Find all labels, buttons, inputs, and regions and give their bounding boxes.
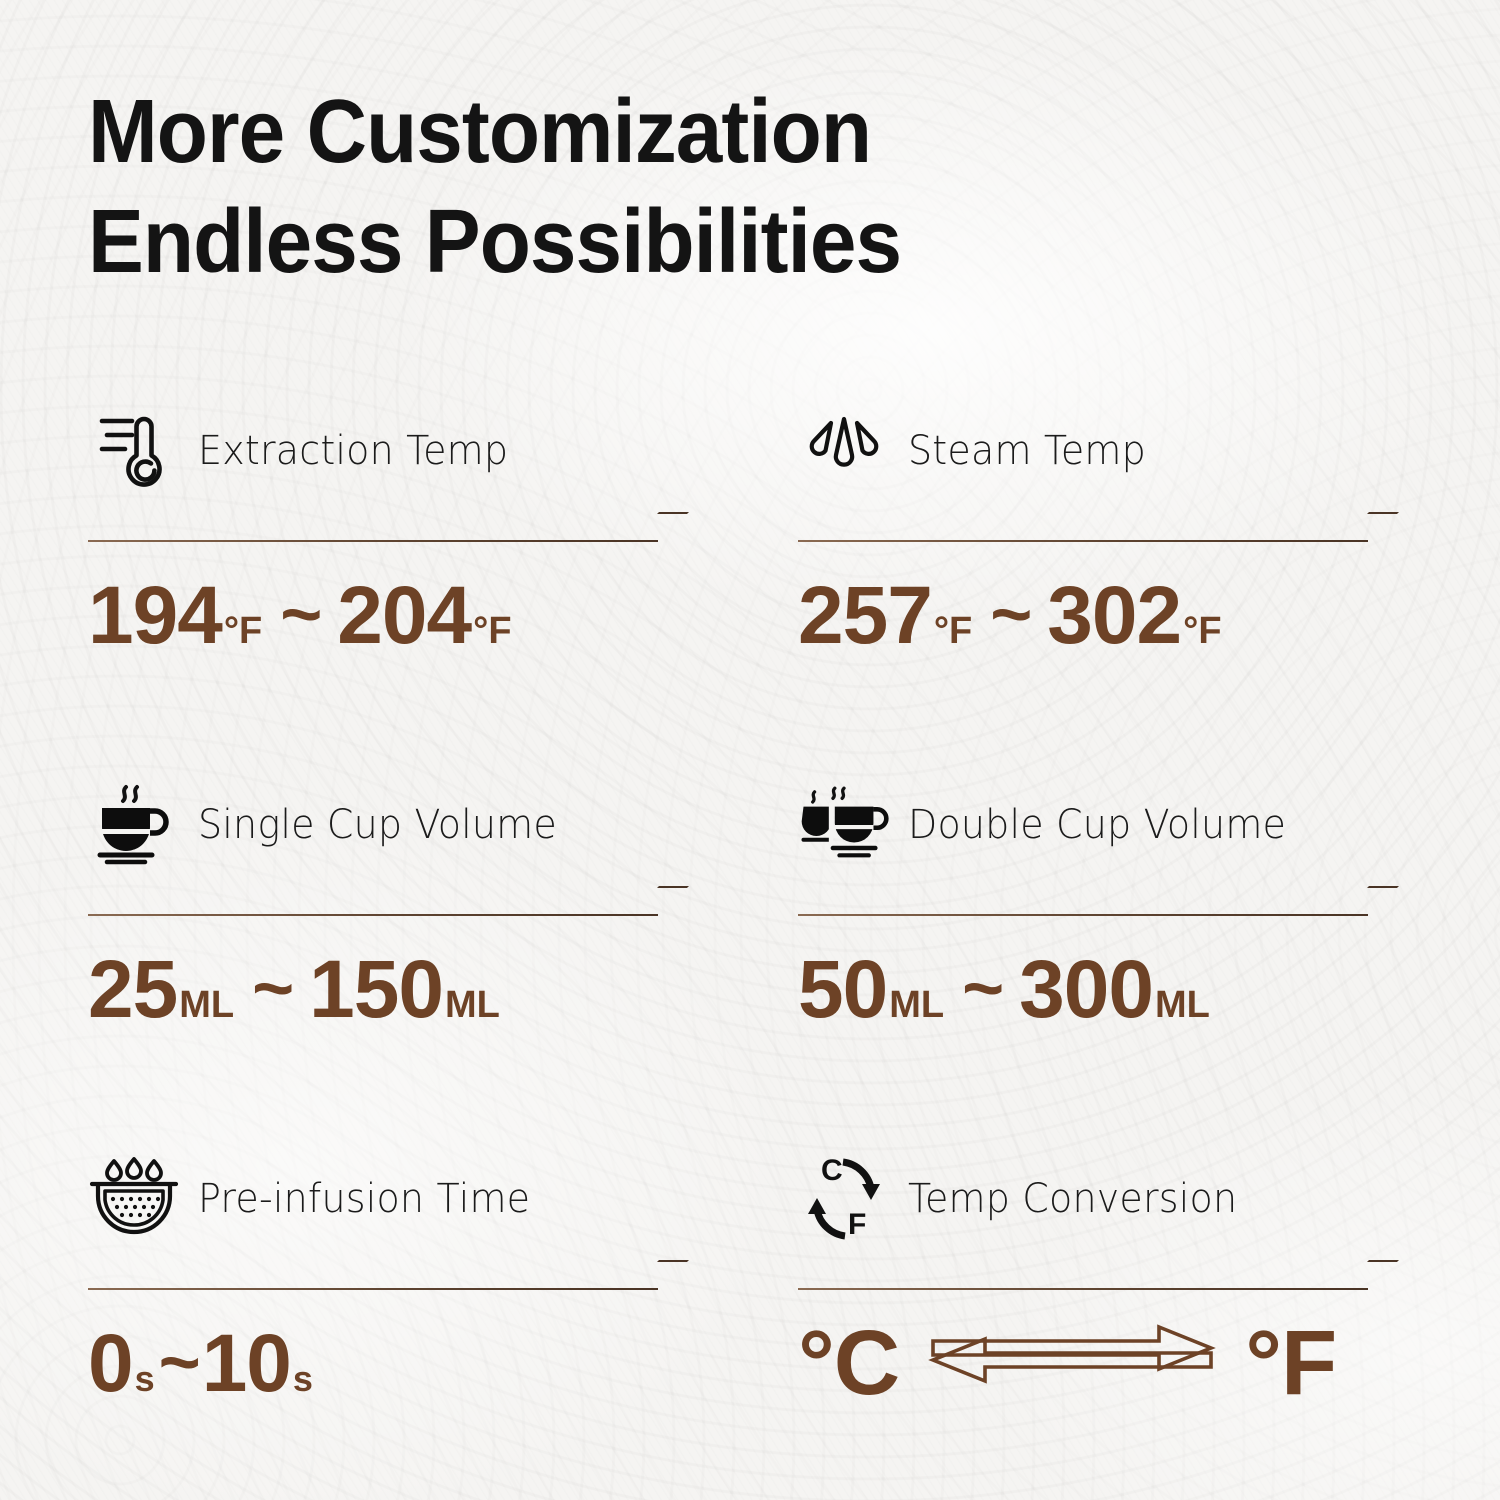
value-max: 204 (337, 575, 471, 657)
cycle-label-f: F (848, 1208, 866, 1241)
infographic-page: More Customization Endless Possibilities (0, 0, 1500, 1500)
feature-block-pre-infusion-time: Pre-infusion Time 0s ~ 10s (88, 1153, 658, 1409)
divider-arrowhead (1339, 512, 1399, 542)
value-max: 300 (1019, 949, 1153, 1031)
conversion-from-unit: °C (798, 1317, 899, 1409)
steam-nozzle-icon (798, 405, 890, 497)
feature-header: Pre-infusion Time (88, 1153, 658, 1245)
value-separator: ~ (159, 1327, 200, 1399)
value-max-unit: s (293, 1361, 313, 1397)
divider-line (798, 540, 1368, 542)
feature-label: Double Cup Volume (908, 802, 1286, 848)
value-min-unit: ML (179, 986, 234, 1024)
feature-block-extraction-temp: Extraction Temp 194°F ~ 204°F (88, 405, 658, 657)
value-separator: ~ (252, 953, 293, 1025)
divider-line (798, 914, 1368, 916)
page-title: More Customization Endless Possibilities (88, 78, 901, 298)
divider-arrowhead (1339, 1260, 1399, 1290)
value-min: 50 (798, 949, 887, 1031)
feature-divider-arrow (88, 891, 658, 925)
value-separator: ~ (962, 953, 1003, 1025)
conversion-to-unit: °F (1245, 1317, 1336, 1409)
portafilter-basket-icon (88, 1153, 180, 1245)
value-min: 25 (88, 949, 177, 1031)
feature-block-double-cup-volume: Double Cup Volume 50ML ~ 300ML (798, 779, 1368, 1031)
feature-header: Double Cup Volume (798, 779, 1368, 871)
value-max-unit: ML (445, 986, 500, 1024)
feature-header: C F Temp Conversion (798, 1153, 1368, 1245)
feature-block-temp-conversion: C F Temp Conversion °C °F (798, 1153, 1368, 1409)
divider-arrowhead (629, 1260, 689, 1290)
feature-value: 25ML ~ 150ML (88, 949, 658, 1031)
divider-arrowhead (629, 886, 689, 916)
feature-grid: Extraction Temp 194°F ~ 204°F (88, 405, 1418, 1409)
divider-line (88, 540, 658, 542)
feature-label: Steam Temp (908, 428, 1146, 474)
thermometer-icon (88, 405, 180, 497)
value-separator: ~ (280, 579, 321, 651)
feature-divider-arrow (798, 517, 1368, 551)
cycle-label-c: C (821, 1156, 843, 1187)
feature-divider-arrow (88, 1265, 658, 1299)
value-min-unit: °F (224, 612, 262, 650)
feature-block-single-cup-volume: Single Cup Volume 25ML ~ 150ML (88, 779, 658, 1031)
feature-header: Steam Temp (798, 405, 1368, 497)
value-separator: ~ (990, 579, 1031, 651)
feature-header: Single Cup Volume (88, 779, 658, 871)
value-max: 150 (309, 949, 443, 1031)
feature-value: 0s ~ 10s (88, 1323, 658, 1405)
value-max-unit: °F (473, 612, 511, 650)
feature-label: Single Cup Volume (198, 802, 557, 848)
single-cup-icon (88, 779, 180, 871)
value-min: 257 (798, 575, 932, 657)
feature-label: Extraction Temp (198, 428, 508, 474)
divider-line (798, 1288, 1368, 1290)
value-max-unit: ML (1155, 986, 1210, 1024)
divider-line (88, 914, 658, 916)
value-max-unit: °F (1183, 612, 1221, 650)
value-min-unit: ML (889, 986, 944, 1024)
value-min-unit: °F (934, 612, 972, 650)
feature-label: Temp Conversion (908, 1176, 1237, 1222)
cycle-arrows-cf-icon: C F (798, 1153, 890, 1245)
divider-arrowhead (1339, 886, 1399, 916)
divider-arrowhead (629, 512, 689, 542)
feature-divider-arrow (798, 1265, 1368, 1299)
feature-value: 50ML ~ 300ML (798, 949, 1368, 1031)
feature-label: Pre-infusion Time (198, 1176, 530, 1222)
feature-block-steam-temp: Steam Temp 257°F ~ 302°F (798, 405, 1368, 657)
feature-divider-arrow (798, 891, 1368, 925)
double-cup-icon (798, 779, 890, 871)
feature-header: Extraction Temp (88, 405, 658, 497)
divider-line (88, 1288, 658, 1290)
feature-divider-arrow (88, 517, 658, 551)
value-max: 10 (202, 1323, 291, 1405)
double-headed-arrow-icon (927, 1319, 1217, 1408)
feature-value: 257°F ~ 302°F (798, 575, 1368, 657)
value-min: 194 (88, 575, 222, 657)
feature-value: °C °F (798, 1317, 1368, 1409)
feature-value: 194°F ~ 204°F (88, 575, 658, 657)
value-min: 0 (88, 1323, 133, 1405)
value-min-unit: s (135, 1361, 155, 1397)
value-max: 302 (1047, 575, 1181, 657)
